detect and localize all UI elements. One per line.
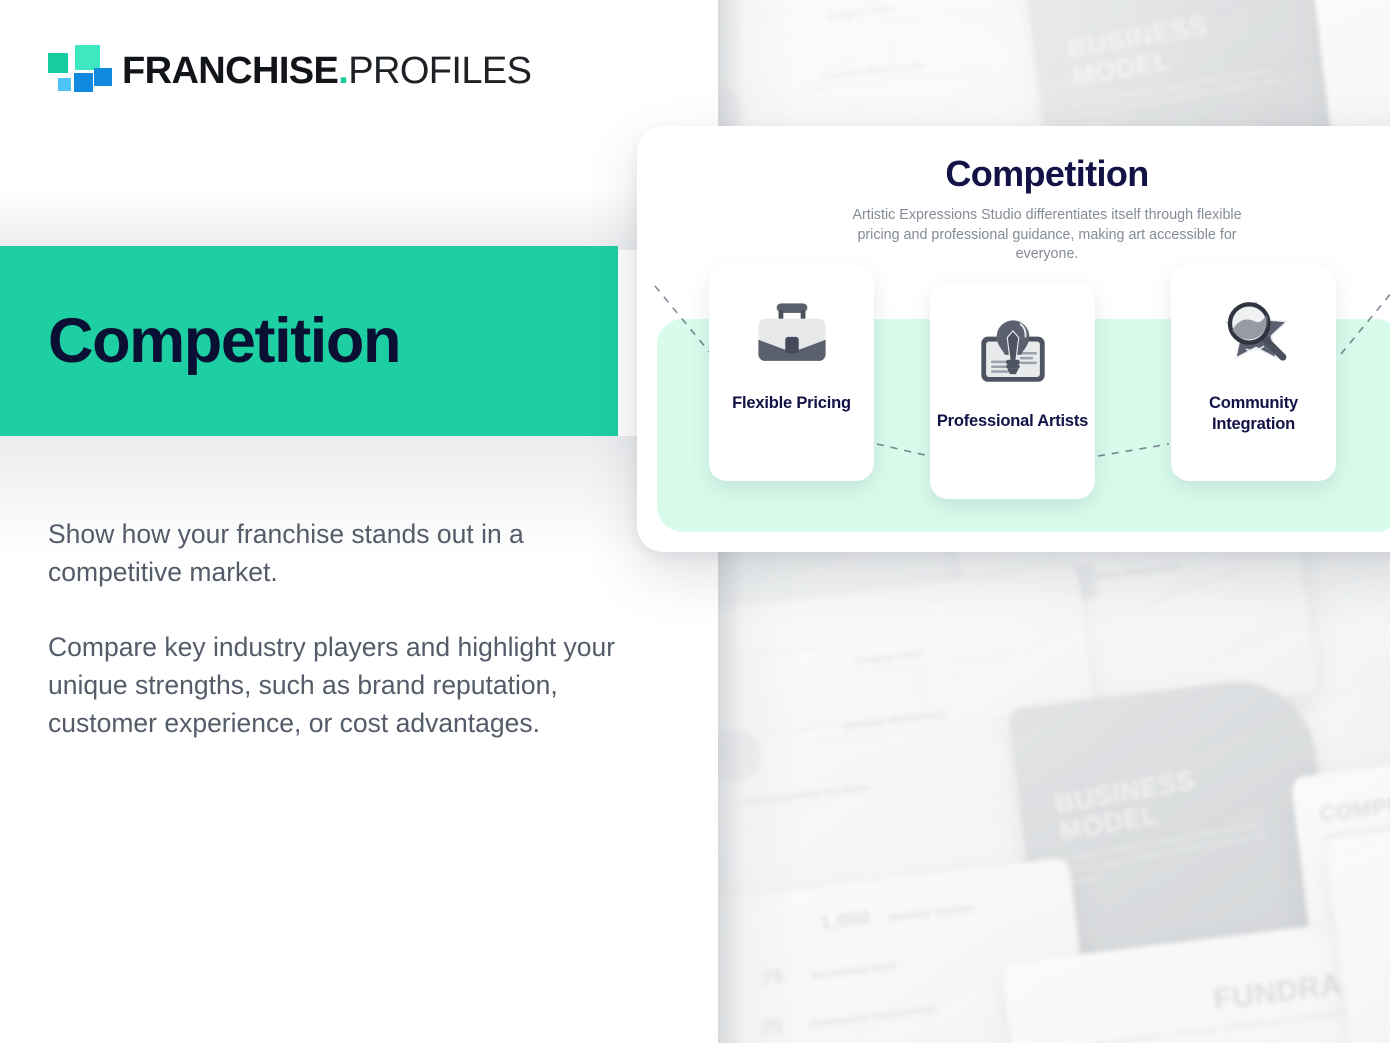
feature-card-flexible-pricing[interactable]: Flexible Pricing [709,265,874,481]
feature-card-community-integration[interactable]: Community Integration [1171,265,1336,481]
left-panel-top-shade [0,190,718,250]
slide-preview-card[interactable]: Competition Artistic Expressions Studio … [637,126,1390,552]
feature-card-row: Flexible Pricing [637,126,1390,552]
section-description: Show how your franchise stands out in a … [48,516,623,742]
feature-label: Community Integration [1171,393,1336,435]
logo-wordmark: FRANCHISE.PROFILES [122,52,531,90]
logo-square-4 [74,73,93,92]
logo-word-dot: . [338,50,348,92]
lightbulb-screen-icon [965,305,1061,401]
logo-square-2 [75,45,100,70]
logo-square-5 [94,68,112,86]
briefcase-icon [744,287,840,383]
page-title: Competition [0,310,400,373]
logo-word-bold: FRANCHISE [122,50,338,92]
section-heading-band: Competition [0,246,618,436]
logo-mark-squares-icon [48,45,104,97]
description-paragraph-1: Show how your franchise stands out in a … [48,516,623,591]
magnifier-star-icon [1206,287,1302,383]
logo-word-light: PROFILES [348,50,531,92]
brand-logo[interactable]: FRANCHISE.PROFILES [48,45,531,97]
logo-square-1 [48,53,68,73]
logo-square-3 [58,78,71,91]
feature-card-professional-artists[interactable]: Professional Artists [930,283,1095,499]
feature-label: Flexible Pricing [732,393,851,414]
description-paragraph-2: Compare key industry players and highlig… [48,629,623,742]
feature-label: Professional Artists [937,411,1088,432]
